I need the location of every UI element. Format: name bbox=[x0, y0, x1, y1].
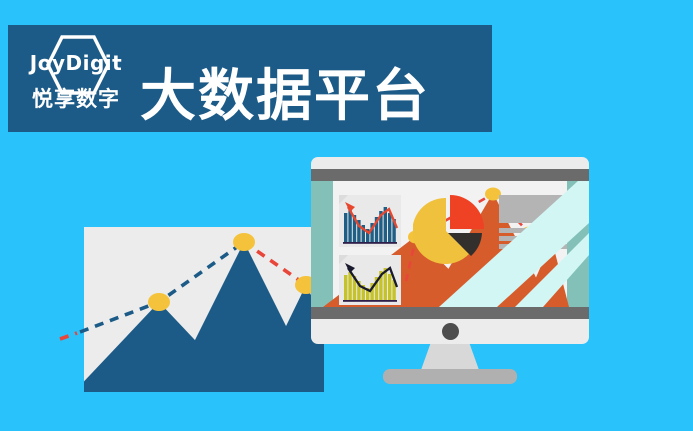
doc-image-block bbox=[499, 195, 567, 223]
monitor-stand-neck bbox=[421, 344, 479, 370]
olive-bar-chart-card[interactable] bbox=[339, 255, 401, 305]
page-title: 大数据平台 bbox=[140, 69, 430, 125]
monitor-bezel-bottom bbox=[311, 307, 589, 319]
brand-logo: JoyDigit 悦享数字 bbox=[20, 33, 132, 125]
monitor-power-button[interactable] bbox=[442, 323, 459, 340]
bar bbox=[388, 274, 391, 300]
dashed-line-left-stub bbox=[60, 333, 77, 339]
doc-line bbox=[499, 228, 567, 233]
arrow-head bbox=[345, 263, 355, 273]
poster-canvas: JoyDigit 悦享数字 大数据平台 bbox=[0, 0, 693, 431]
data-marker-1 bbox=[148, 293, 170, 311]
blue-bar-chart bbox=[339, 195, 401, 247]
header-banner: JoyDigit 悦享数字 大数据平台 bbox=[8, 25, 492, 132]
bar bbox=[344, 213, 347, 242]
desktop-monitor bbox=[311, 157, 589, 389]
olive-bar-chart bbox=[339, 255, 401, 305]
bar bbox=[344, 275, 347, 300]
card-fold-corner bbox=[339, 195, 348, 204]
axis-line bbox=[343, 300, 397, 302]
monitor-bezel-top bbox=[311, 169, 589, 181]
card-fold-corner bbox=[339, 255, 348, 264]
blue-bar-chart-card[interactable] bbox=[339, 195, 401, 247]
dashed-line-ascending bbox=[80, 242, 244, 332]
doc-line bbox=[499, 236, 567, 241]
monitor-screen[interactable] bbox=[311, 181, 589, 307]
bar bbox=[348, 272, 351, 300]
document-placeholder[interactable] bbox=[499, 195, 567, 247]
pie-slice-red bbox=[450, 195, 484, 229]
logo-wordmark: JoyDigit bbox=[20, 53, 132, 73]
axis-line bbox=[343, 242, 397, 244]
data-marker-2 bbox=[233, 233, 255, 251]
doc-line bbox=[499, 244, 567, 249]
monitor-stand-base bbox=[383, 369, 517, 384]
pie-chart[interactable] bbox=[413, 193, 485, 265]
logo-subtitle: 悦享数字 bbox=[20, 89, 132, 110]
bar bbox=[388, 213, 391, 242]
mountain-trendline-overlay bbox=[60, 215, 350, 405]
